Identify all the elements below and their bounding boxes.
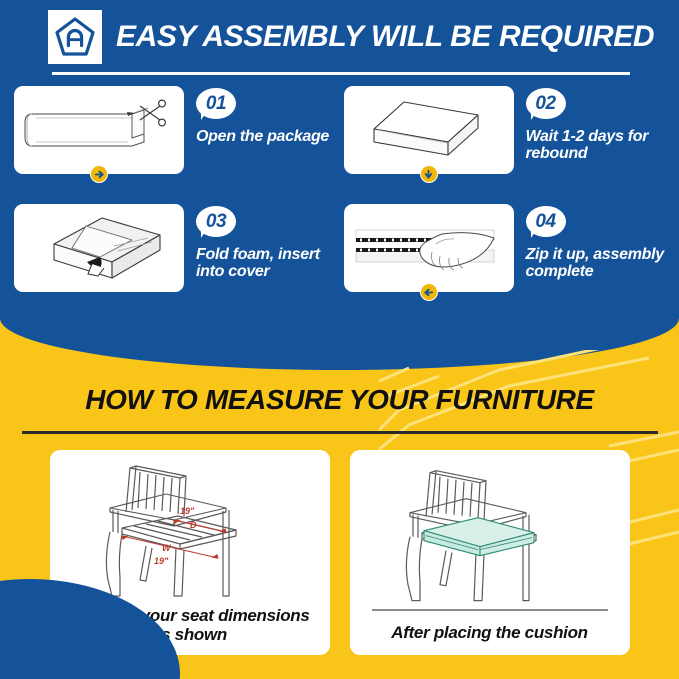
annotation-width-value: 19" xyxy=(154,556,169,566)
house-pentagon-a-logo-icon xyxy=(53,15,97,59)
step-04-label: Zip it up, assembly complete xyxy=(526,246,666,281)
annotation-width-label: W xyxy=(162,543,172,553)
step-01-text: 01 Open the package xyxy=(196,86,329,145)
hand-zipping-zipper-icon xyxy=(344,204,514,292)
step-01-bubble: 01 xyxy=(196,88,236,119)
step-02-illustration-card xyxy=(344,86,514,174)
step-04-text: 04 Zip it up, assembly complete xyxy=(526,204,666,281)
step-04: 04 Zip it up, assembly complete xyxy=(344,204,666,312)
step-02-text: 02 Wait 1-2 days for rebound xyxy=(526,86,666,163)
header-divider xyxy=(52,72,630,75)
step-03-illustration-card xyxy=(14,204,184,292)
measure-card-cushion-caption: After placing the cushion xyxy=(350,611,630,655)
page-title: EASY ASSEMBLY WILL BE REQUIRED xyxy=(116,20,654,54)
step-01-number-badge: 01 xyxy=(196,88,238,124)
step-01-number: 01 xyxy=(206,93,226,115)
arrow-left-icon xyxy=(423,287,434,298)
assembly-header: EASY ASSEMBLY WILL BE REQUIRED xyxy=(0,8,679,66)
chair-with-mint-cushion-icon xyxy=(350,450,630,609)
step-02-number: 02 xyxy=(535,93,555,115)
step-01-arrow-right-badge xyxy=(90,165,108,183)
step-04-bubble: 04 xyxy=(526,206,566,237)
step-04-number: 04 xyxy=(535,211,555,233)
foam-inserted-into-cover-icon xyxy=(14,204,184,292)
arrow-right-icon xyxy=(94,169,105,180)
annotation-depth-value: 19" xyxy=(180,506,195,516)
step-03-bubble: 03 xyxy=(196,206,236,237)
measure-card-dimensions-art: 19" D W 19" xyxy=(50,450,330,600)
flat-foam-cushion-icon xyxy=(344,86,514,174)
step-04-illustration-card xyxy=(344,204,514,292)
step-02-number-badge: 02 xyxy=(526,88,568,124)
measure-section-title: HOW TO MEASURE YOUR FURNITURE xyxy=(0,384,679,416)
annotation-depth-label: D xyxy=(190,520,197,530)
step-02-bubble: 02 xyxy=(526,88,566,119)
step-03-number-badge: 03 xyxy=(196,206,238,242)
measure-card-cushion-art xyxy=(350,450,630,609)
step-02: 02 Wait 1-2 days for rebound xyxy=(344,86,666,194)
step-04-arrow-left-badge xyxy=(420,283,438,301)
chair-with-dimension-annotations-icon: 19" D W 19" xyxy=(50,450,330,600)
arrow-down-icon xyxy=(423,169,434,180)
infographic-page: EASY ASSEMBLY WILL BE REQUIRED xyxy=(0,0,679,679)
step-03-number: 03 xyxy=(206,211,226,233)
step-01: 01 Open the package xyxy=(14,86,336,194)
step-02-arrow-down-badge xyxy=(420,165,438,183)
step-02-label: Wait 1-2 days for rebound xyxy=(526,128,666,163)
step-03-label: Fold foam, insert into cover xyxy=(196,246,336,281)
assembly-steps-grid: 01 Open the package xyxy=(14,86,665,312)
rolled-package-with-scissors-icon xyxy=(14,86,184,174)
brand-logo xyxy=(48,10,102,64)
measure-section-divider xyxy=(22,431,658,434)
measure-card-cushion: After placing the cushion xyxy=(350,450,630,655)
step-03: 03 Fold foam, insert into cover xyxy=(14,204,336,312)
step-01-illustration-card xyxy=(14,86,184,174)
step-01-label: Open the package xyxy=(196,128,329,145)
step-04-number-badge: 04 xyxy=(526,206,568,242)
step-03-text: 03 Fold foam, insert into cover xyxy=(196,204,336,281)
